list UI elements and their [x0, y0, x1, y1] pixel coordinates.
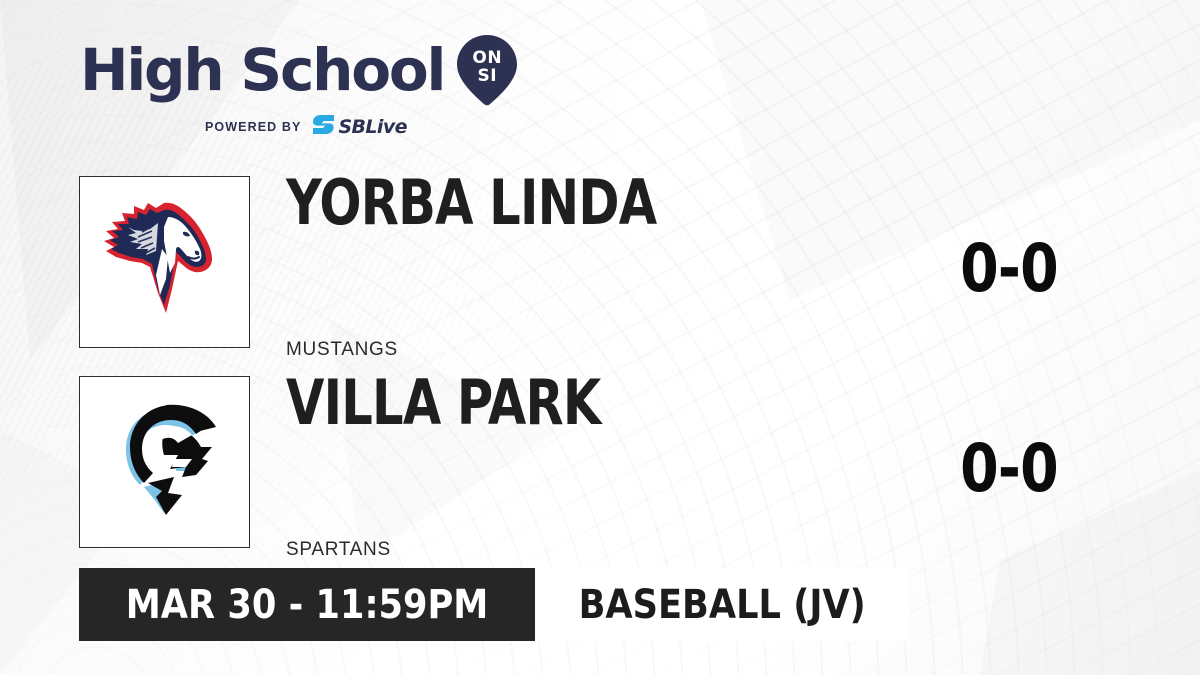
game-datetime: MAR 30 - 11:59PM	[126, 585, 489, 625]
team-record: 0-0	[933, 236, 1084, 302]
on-si-pin-icon: ON SI	[456, 34, 518, 106]
mustang-head-icon	[90, 187, 240, 337]
team-record: 0-0	[933, 436, 1084, 502]
brand-header: High School ON SI POWERED BY SBLive	[80, 34, 640, 140]
sblive-logo: SBLive	[312, 114, 406, 140]
team-name: VILLA PARK	[286, 372, 601, 434]
team-logo-box	[79, 376, 250, 548]
team-logo-box	[79, 176, 250, 348]
matchup-card: High School ON SI POWERED BY SBLive	[0, 0, 1200, 675]
brand-title-row: High School ON SI	[80, 34, 640, 106]
team-mascot: SPARTANS	[286, 539, 391, 561]
team-mascot: MUSTANGS	[286, 339, 398, 361]
game-sport-block: BASEBALL (JV)	[535, 568, 909, 641]
team-name: YORBA LINDA	[286, 172, 656, 234]
team-row-home: YORBA LINDA MUSTANGS 0-0	[79, 176, 1039, 348]
team-row-away: VILLA PARK SPARTANS 0-0	[79, 376, 1039, 548]
sblive-s-mark-icon	[312, 114, 335, 140]
spartan-helmet-icon	[90, 387, 240, 537]
sblive-wordmark: SBLive	[338, 116, 406, 138]
powered-by-row: POWERED BY SBLive	[80, 114, 640, 140]
game-datetime-block: MAR 30 - 11:59PM	[79, 568, 535, 641]
pin-label-on: ON	[456, 50, 518, 67]
powered-by-label: POWERED BY	[205, 120, 301, 134]
page-title: High School	[80, 41, 444, 99]
game-info-banner: MAR 30 - 11:59PM BASEBALL (JV)	[79, 568, 909, 641]
pin-label-si: SI	[456, 68, 518, 85]
game-sport: BASEBALL (JV)	[579, 585, 866, 625]
